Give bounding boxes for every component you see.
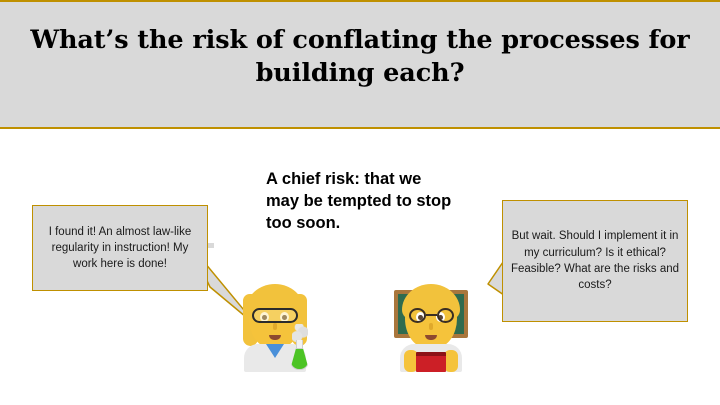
speech-bubble-left: I found it! An almost law-like regularit… — [32, 205, 208, 291]
glasses-icon — [409, 308, 454, 323]
woman-scientist-emoji — [236, 278, 314, 370]
woman-scientist-emoji-art — [236, 278, 314, 370]
teacher-emoji — [392, 278, 470, 370]
lens-right — [437, 308, 454, 323]
nose — [429, 323, 433, 330]
flask-body — [290, 348, 309, 370]
title-banner-inner: What’s the risk of conflating the proces… — [24, 24, 696, 89]
teacher-emoji-art — [392, 278, 470, 370]
center-statement-text: A chief risk: that we may be tempted to … — [266, 168, 458, 234]
speech-bubble-right: But wait. Should I implement it in my cu… — [502, 200, 688, 322]
nose — [273, 323, 277, 330]
book-icon — [416, 352, 446, 372]
speech-bubble-right-text: But wait. Should I implement it in my cu… — [503, 228, 687, 293]
speech-bubble-left-text: I found it! An almost law-like regularit… — [33, 224, 207, 273]
flask-icon — [288, 340, 310, 370]
arm-right — [444, 350, 458, 372]
safety-goggles-icon — [252, 308, 298, 323]
page-title: What’s the risk of conflating the proces… — [24, 24, 696, 89]
title-banner: What’s the risk of conflating the proces… — [0, 0, 720, 129]
lens-left — [409, 308, 426, 323]
glasses-bridge — [426, 314, 437, 316]
